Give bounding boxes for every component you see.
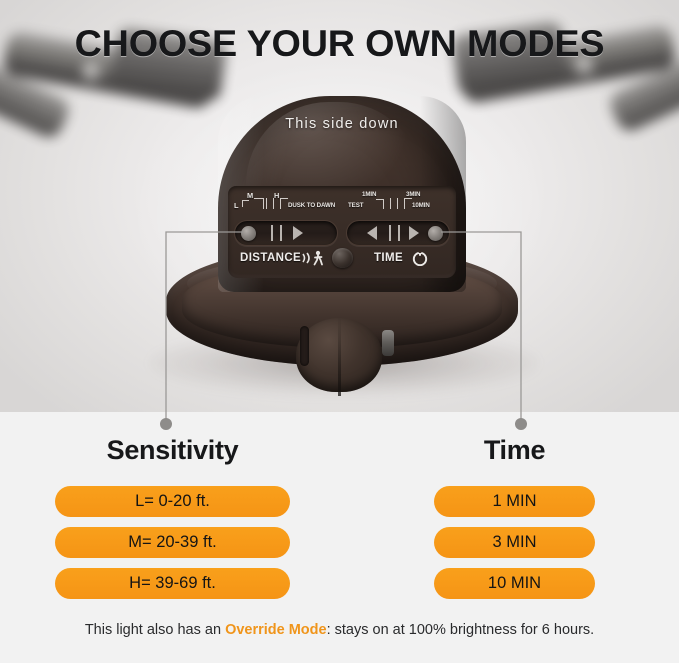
override-mode-highlight: Override Mode <box>225 622 327 638</box>
caption-text-before: This light also has an <box>85 622 225 638</box>
caption-text-after: : stays on at 100% brightness for 6 hour… <box>327 622 595 638</box>
sensitivity-option-medium[interactable]: M= 20-39 ft. <box>55 527 290 558</box>
override-mode-caption: This light also has an Override Mode: st… <box>0 622 679 638</box>
time-heading: Time <box>434 435 595 466</box>
time-option-3min[interactable]: 3 MIN <box>434 527 595 558</box>
time-option-1min[interactable]: 1 MIN <box>434 486 595 517</box>
sensitivity-option-low[interactable]: L= 0-20 ft. <box>55 486 290 517</box>
sensitivity-option-high[interactable]: H= 39-69 ft. <box>55 568 290 599</box>
page-title: CHOOSE YOUR OWN MODES <box>0 22 679 66</box>
sensitivity-heading: Sensitivity <box>55 435 290 466</box>
infographic-page: CHOOSE YOUR OWN MODES This side down L M… <box>0 0 679 663</box>
time-option-10min[interactable]: 10 MIN <box>434 568 595 599</box>
